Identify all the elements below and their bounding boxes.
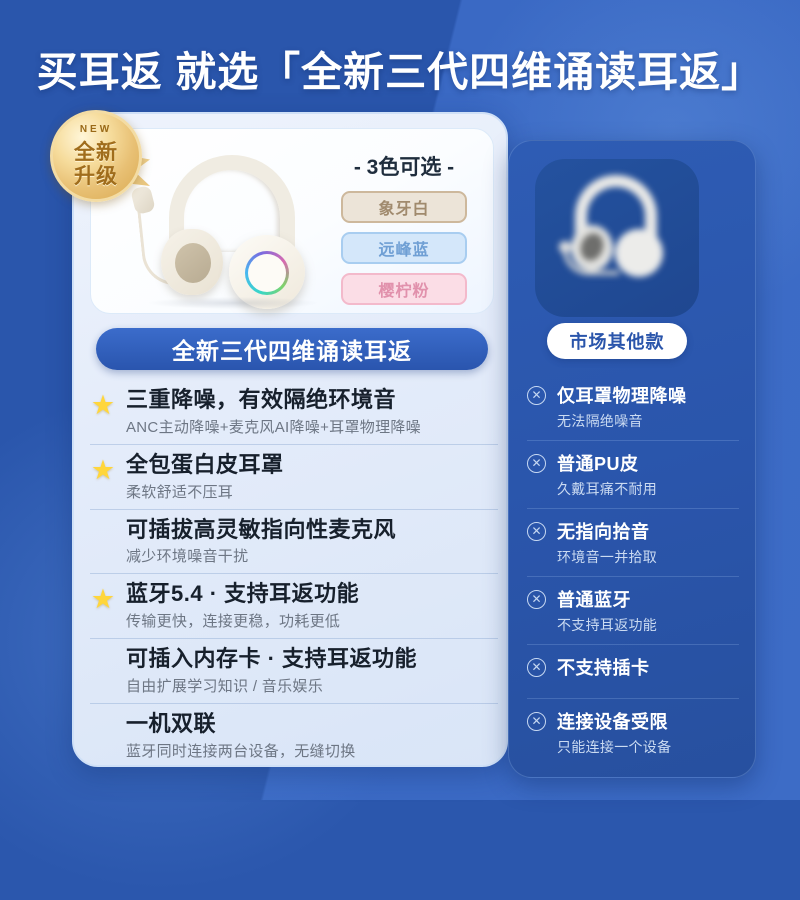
drawback-title: 不支持插卡 xyxy=(557,654,739,680)
drawback-row: ✕ 普通蓝牙 不支持耳返功能 xyxy=(527,576,739,644)
drawback-title: 无指向拾音 xyxy=(557,518,739,544)
feature-subtitle: 柔软舒适不压耳 xyxy=(126,481,498,502)
feature-row: ★ 蓝牙5.4 · 支持耳返功能 传输更快，连接更稳，功耗更低 xyxy=(90,573,498,638)
feature-list: ★ 三重降噪，有效隔绝环境音 ANC主动降噪+麦克风AI降噪+耳罩物理降噪 ★ … xyxy=(90,380,498,767)
feature-title: 一机双联 xyxy=(126,711,498,738)
star-icon: ★ xyxy=(90,586,116,612)
cross-circle-icon: ✕ xyxy=(527,712,546,731)
drawback-title: 连接设备受限 xyxy=(557,708,739,734)
cross-circle-icon: ✕ xyxy=(527,522,546,541)
drawback-title: 普通蓝牙 xyxy=(557,586,739,612)
feature-row: ★ 三重降噪，有效隔绝环境音 ANC主动降噪+麦克风AI降噪+耳罩物理降噪 xyxy=(90,380,498,444)
feature-subtitle: 自由扩展学习知识 / 音乐娱乐 xyxy=(126,675,498,696)
feature-subtitle: 蓝牙同时连接两台设备，无缝切换 xyxy=(126,740,498,761)
star-icon: ★ xyxy=(90,392,116,418)
drawback-subtitle: 不支持耳返功能 xyxy=(557,615,739,635)
badge-line2: 升级 xyxy=(50,160,142,190)
competitor-microphone-tip xyxy=(559,241,571,253)
drawback-subtitle: 只能连接一个设备 xyxy=(557,737,739,757)
cross-circle-icon: ✕ xyxy=(527,658,546,677)
competitor-headphones-blurred xyxy=(559,175,677,293)
drawback-row: ✕ 不支持插卡 xyxy=(527,644,739,698)
badge-new-text: NEW xyxy=(50,124,142,135)
feature-row: 可插入内存卡 · 支持耳返功能 自由扩展学习知识 / 音乐娱乐 xyxy=(90,638,498,703)
product-shadow xyxy=(149,297,317,309)
feature-row: ★ 全包蛋白皮耳罩 柔软舒适不压耳 xyxy=(90,444,498,509)
color-swatch-cherry-pink[interactable]: 樱柠粉 xyxy=(341,273,467,305)
product-name-banner: 全新三代四维诵读耳返 xyxy=(96,328,488,370)
drawback-subtitle: 环境音一并拾取 xyxy=(557,547,739,567)
feature-row: 可插拔高灵敏指向性麦克风 减少环境噪音干扰 xyxy=(90,509,498,574)
color-swatch-peak-blue[interactable]: 远峰蓝 xyxy=(341,232,467,264)
feature-title: 可插拔高灵敏指向性麦克风 xyxy=(126,517,498,544)
feature-title: 全包蛋白皮耳罩 xyxy=(126,452,498,479)
cross-circle-icon: ✕ xyxy=(527,386,546,405)
feature-subtitle: 减少环境噪音干扰 xyxy=(126,545,498,566)
product-showcase-card: - 3色可选 - 象牙白 远峰蓝 樱柠粉 xyxy=(90,128,494,314)
drawback-row: ✕ 仅耳罩物理降噪 无法隔绝噪音 xyxy=(527,373,739,440)
cross-circle-icon: ✕ xyxy=(527,590,546,609)
feature-subtitle: ANC主动降噪+麦克风AI降噪+耳罩物理降噪 xyxy=(126,416,498,437)
new-upgrade-badge: NEW 全新 升级 xyxy=(46,108,150,212)
feature-title: 可插入内存卡 · 支持耳返功能 xyxy=(126,646,498,673)
drawback-row: ✕ 连接设备受限 只能连接一个设备 xyxy=(527,698,739,766)
color-options-group: - 3色可选 - 象牙白 远峰蓝 樱柠粉 xyxy=(329,151,479,314)
competitor-right-earcup xyxy=(615,229,663,277)
drawback-title: 仅耳罩物理降噪 xyxy=(557,382,739,408)
competitor-drawback-list: ✕ 仅耳罩物理降噪 无法隔绝噪音 ✕ 普通PU皮 久戴耳痛不耐用 ✕ 无指向拾音… xyxy=(527,373,739,766)
page-title: 买耳返 就选「全新三代四维诵读耳返」 xyxy=(0,38,800,98)
drawback-row: ✕ 普通PU皮 久戴耳痛不耐用 xyxy=(527,440,739,508)
drawback-subtitle: 无法隔绝噪音 xyxy=(557,411,739,431)
color-options-title: - 3色可选 - xyxy=(329,151,479,181)
left-earpad xyxy=(175,243,211,283)
drawback-title: 普通PU皮 xyxy=(557,450,739,476)
feature-title: 蓝牙5.4 · 支持耳返功能 xyxy=(126,581,498,608)
headphones-product-image xyxy=(125,151,325,307)
competitor-comparison-panel: 市场其他款 ✕ 仅耳罩物理降噪 无法隔绝噪音 ✕ 普通PU皮 久戴耳痛不耐用 ✕… xyxy=(508,140,756,778)
drawback-row: ✕ 无指向拾音 环境音一并拾取 xyxy=(527,508,739,576)
color-swatch-ivory-white[interactable]: 象牙白 xyxy=(341,191,467,223)
feature-title: 三重降噪，有效隔绝环境音 xyxy=(126,387,498,414)
competitor-microphone-arm xyxy=(563,249,619,275)
feature-subtitle: 传输更快，连接更稳，功耗更低 xyxy=(126,610,498,631)
competitor-label: 市场其他款 xyxy=(547,323,687,359)
rgb-light-ring xyxy=(245,251,289,295)
feature-row: 一机双联 蓝牙同时连接两台设备，无缝切换 xyxy=(90,703,498,767)
cross-circle-icon: ✕ xyxy=(527,454,546,473)
star-icon: ★ xyxy=(90,457,116,483)
drawback-subtitle: 久戴耳痛不耐用 xyxy=(557,479,739,499)
competitor-product-image xyxy=(535,159,699,317)
